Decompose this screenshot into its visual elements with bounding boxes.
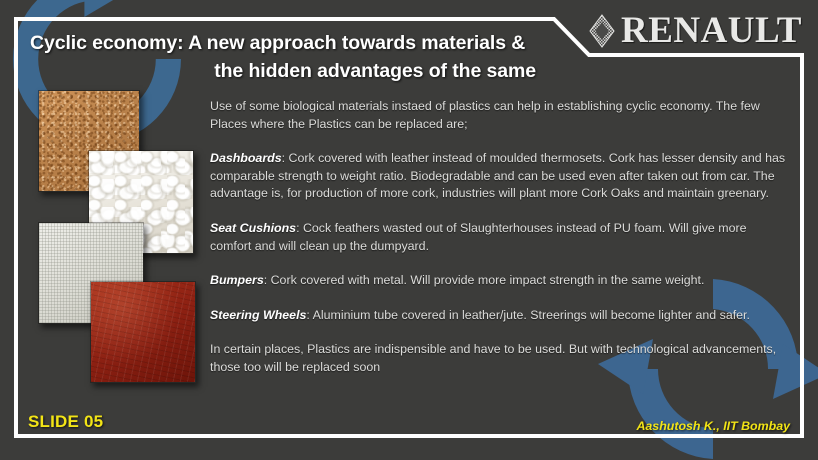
title-line-1: Cyclic economy: A new approach towards m… xyxy=(24,30,554,58)
item-term-seat-cushions: Seat Cushions xyxy=(210,221,296,235)
intro-text: Use of some biological materials instaed… xyxy=(210,99,760,131)
item-term-steering-wheels: Steering Wheels xyxy=(210,308,306,322)
item-term-bumpers: Bumpers xyxy=(210,273,264,287)
item-paragraph-seat-cushions: Seat Cushions: Cock feathers wasted out … xyxy=(210,220,790,255)
outro-text: In certain places, Plastics are indispen… xyxy=(210,342,776,374)
item-paragraph-dashboards: Dashboards: Cork covered with leather in… xyxy=(210,150,790,203)
slide-number-label: SLIDE 05 xyxy=(28,412,103,432)
item-term-dashboards: Dashboards xyxy=(210,151,282,165)
renault-logo: RENAULT xyxy=(589,12,802,49)
slide-title: Cyclic economy: A new approach towards m… xyxy=(24,30,554,85)
item-text-bumpers: : Cork covered with metal. Will provide … xyxy=(264,273,705,287)
leather-material-photo xyxy=(90,281,196,383)
leather-texture xyxy=(91,282,195,382)
presentation-slide: RENAULT Cyclic economy: A new approach t… xyxy=(0,0,818,460)
title-line-2: the hidden advantages of the same xyxy=(24,58,554,86)
author-credit-label: Aashutosh K., IIT Bombay xyxy=(636,419,790,433)
item-paragraph-steering-wheels: Steering Wheels: Aluminium tube covered … xyxy=(210,307,790,325)
renault-wordmark: RENAULT xyxy=(621,12,802,49)
outro-paragraph: In certain places, Plastics are indispen… xyxy=(210,341,790,376)
item-text-dashboards: : Cork covered with leather instead of m… xyxy=(210,151,785,200)
slide-body-text: Use of some biological materials instaed… xyxy=(210,98,790,377)
item-text-steering-wheels: : Aluminium tube covered in leather/jute… xyxy=(306,308,750,322)
intro-paragraph: Use of some biological materials instaed… xyxy=(210,98,790,133)
renault-diamond-icon xyxy=(589,14,615,48)
item-paragraph-bumpers: Bumpers: Cork covered with metal. Will p… xyxy=(210,272,790,290)
